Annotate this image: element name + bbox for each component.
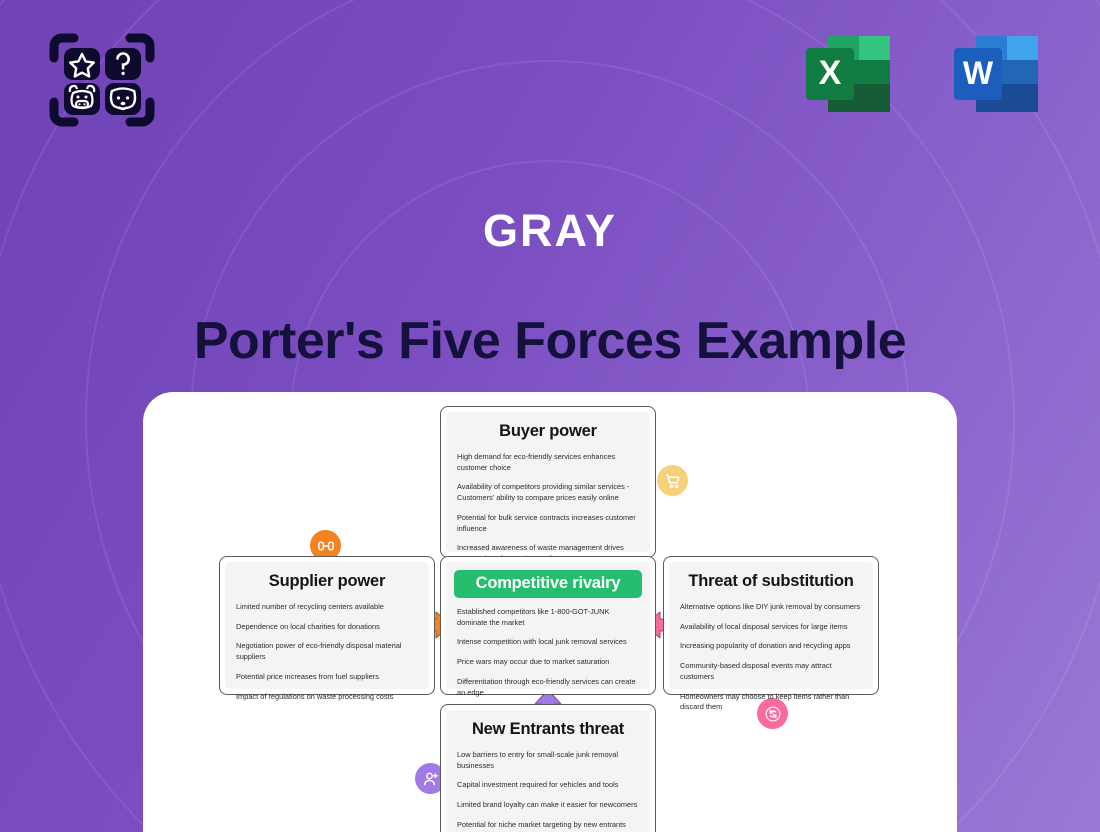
excel-icon[interactable]: X (798, 30, 902, 124)
list-item: Limited number of recycling centers avai… (236, 602, 418, 613)
force-card-entrants[interactable]: New Entrants threat Low barriers to entr… (440, 704, 656, 832)
word-icon[interactable]: W (946, 30, 1050, 124)
list-item: Potential for niche market targeting by … (457, 820, 639, 831)
force-card-buyer[interactable]: Buyer power High demand for eco-friendly… (440, 406, 656, 558)
list-item: Potential price increases from fuel supp… (236, 672, 418, 683)
poster-canvas: X W GRAY Porter's Five Forces Example (0, 0, 1100, 832)
list-item: Alternative options like DIY junk remova… (680, 602, 862, 613)
list-item: Established competitors like 1-800-GOT-J… (457, 607, 639, 628)
list-item: Intense competition with local junk remo… (457, 637, 639, 648)
force-card-rivalry[interactable]: Competitive rivalry Established competit… (440, 556, 656, 695)
office-app-icons: X W (798, 30, 1050, 124)
card-bullets: Low barriers to entry for small-scale ju… (457, 750, 639, 832)
card-title: Buyer power (457, 422, 639, 441)
brand-word: GRAY (0, 208, 1100, 253)
card-bullets: High demand for eco-friendly services en… (457, 452, 639, 565)
card-title: Supplier power (236, 572, 418, 591)
diagram-panel: Buyer power High demand for eco-friendly… (143, 392, 957, 832)
list-item: Impact of regulations on waste processin… (236, 692, 418, 703)
list-item: Potential for bulk service contracts inc… (457, 513, 639, 534)
card-title: Threat of substitution (680, 572, 862, 591)
card-title: Competitive rivalry (454, 570, 642, 598)
card-bullets: Limited number of recycling centers avai… (236, 602, 418, 702)
list-item: Community-based disposal events may attr… (680, 661, 862, 682)
list-item: Increasing popularity of donation and re… (680, 641, 862, 652)
force-card-substitution[interactable]: Threat of substitution Alternative optio… (663, 556, 879, 695)
page-title: Porter's Five Forces Example (0, 312, 1100, 372)
list-item: Homeowners may choose to keep items rath… (680, 692, 862, 713)
list-item: Limited brand loyalty can make it easier… (457, 800, 639, 811)
badge-shopping-cart-icon[interactable] (657, 465, 688, 496)
list-item: Availability of local disposal services … (680, 622, 862, 633)
list-item: Negotiation power of eco-friendly dispos… (236, 641, 418, 662)
list-item: Low barriers to entry for small-scale ju… (457, 750, 639, 771)
card-title: New Entrants threat (457, 720, 639, 739)
qr-pet-logo-icon (48, 30, 156, 130)
list-item: Differentiation through eco-friendly ser… (457, 677, 639, 698)
list-item: High demand for eco-friendly services en… (457, 452, 639, 473)
force-card-supplier[interactable]: Supplier power Limited number of recycli… (219, 556, 435, 695)
svg-text:W: W (963, 55, 994, 91)
list-item: Availability of competitors providing si… (457, 482, 639, 503)
card-bullets: Alternative options like DIY junk remova… (680, 602, 862, 713)
svg-text:X: X (819, 54, 842, 92)
list-item: Price wars may occur due to market satur… (457, 657, 639, 668)
list-item: Capital investment required for vehicles… (457, 780, 639, 791)
list-item: Dependence on local charities for donati… (236, 622, 418, 633)
